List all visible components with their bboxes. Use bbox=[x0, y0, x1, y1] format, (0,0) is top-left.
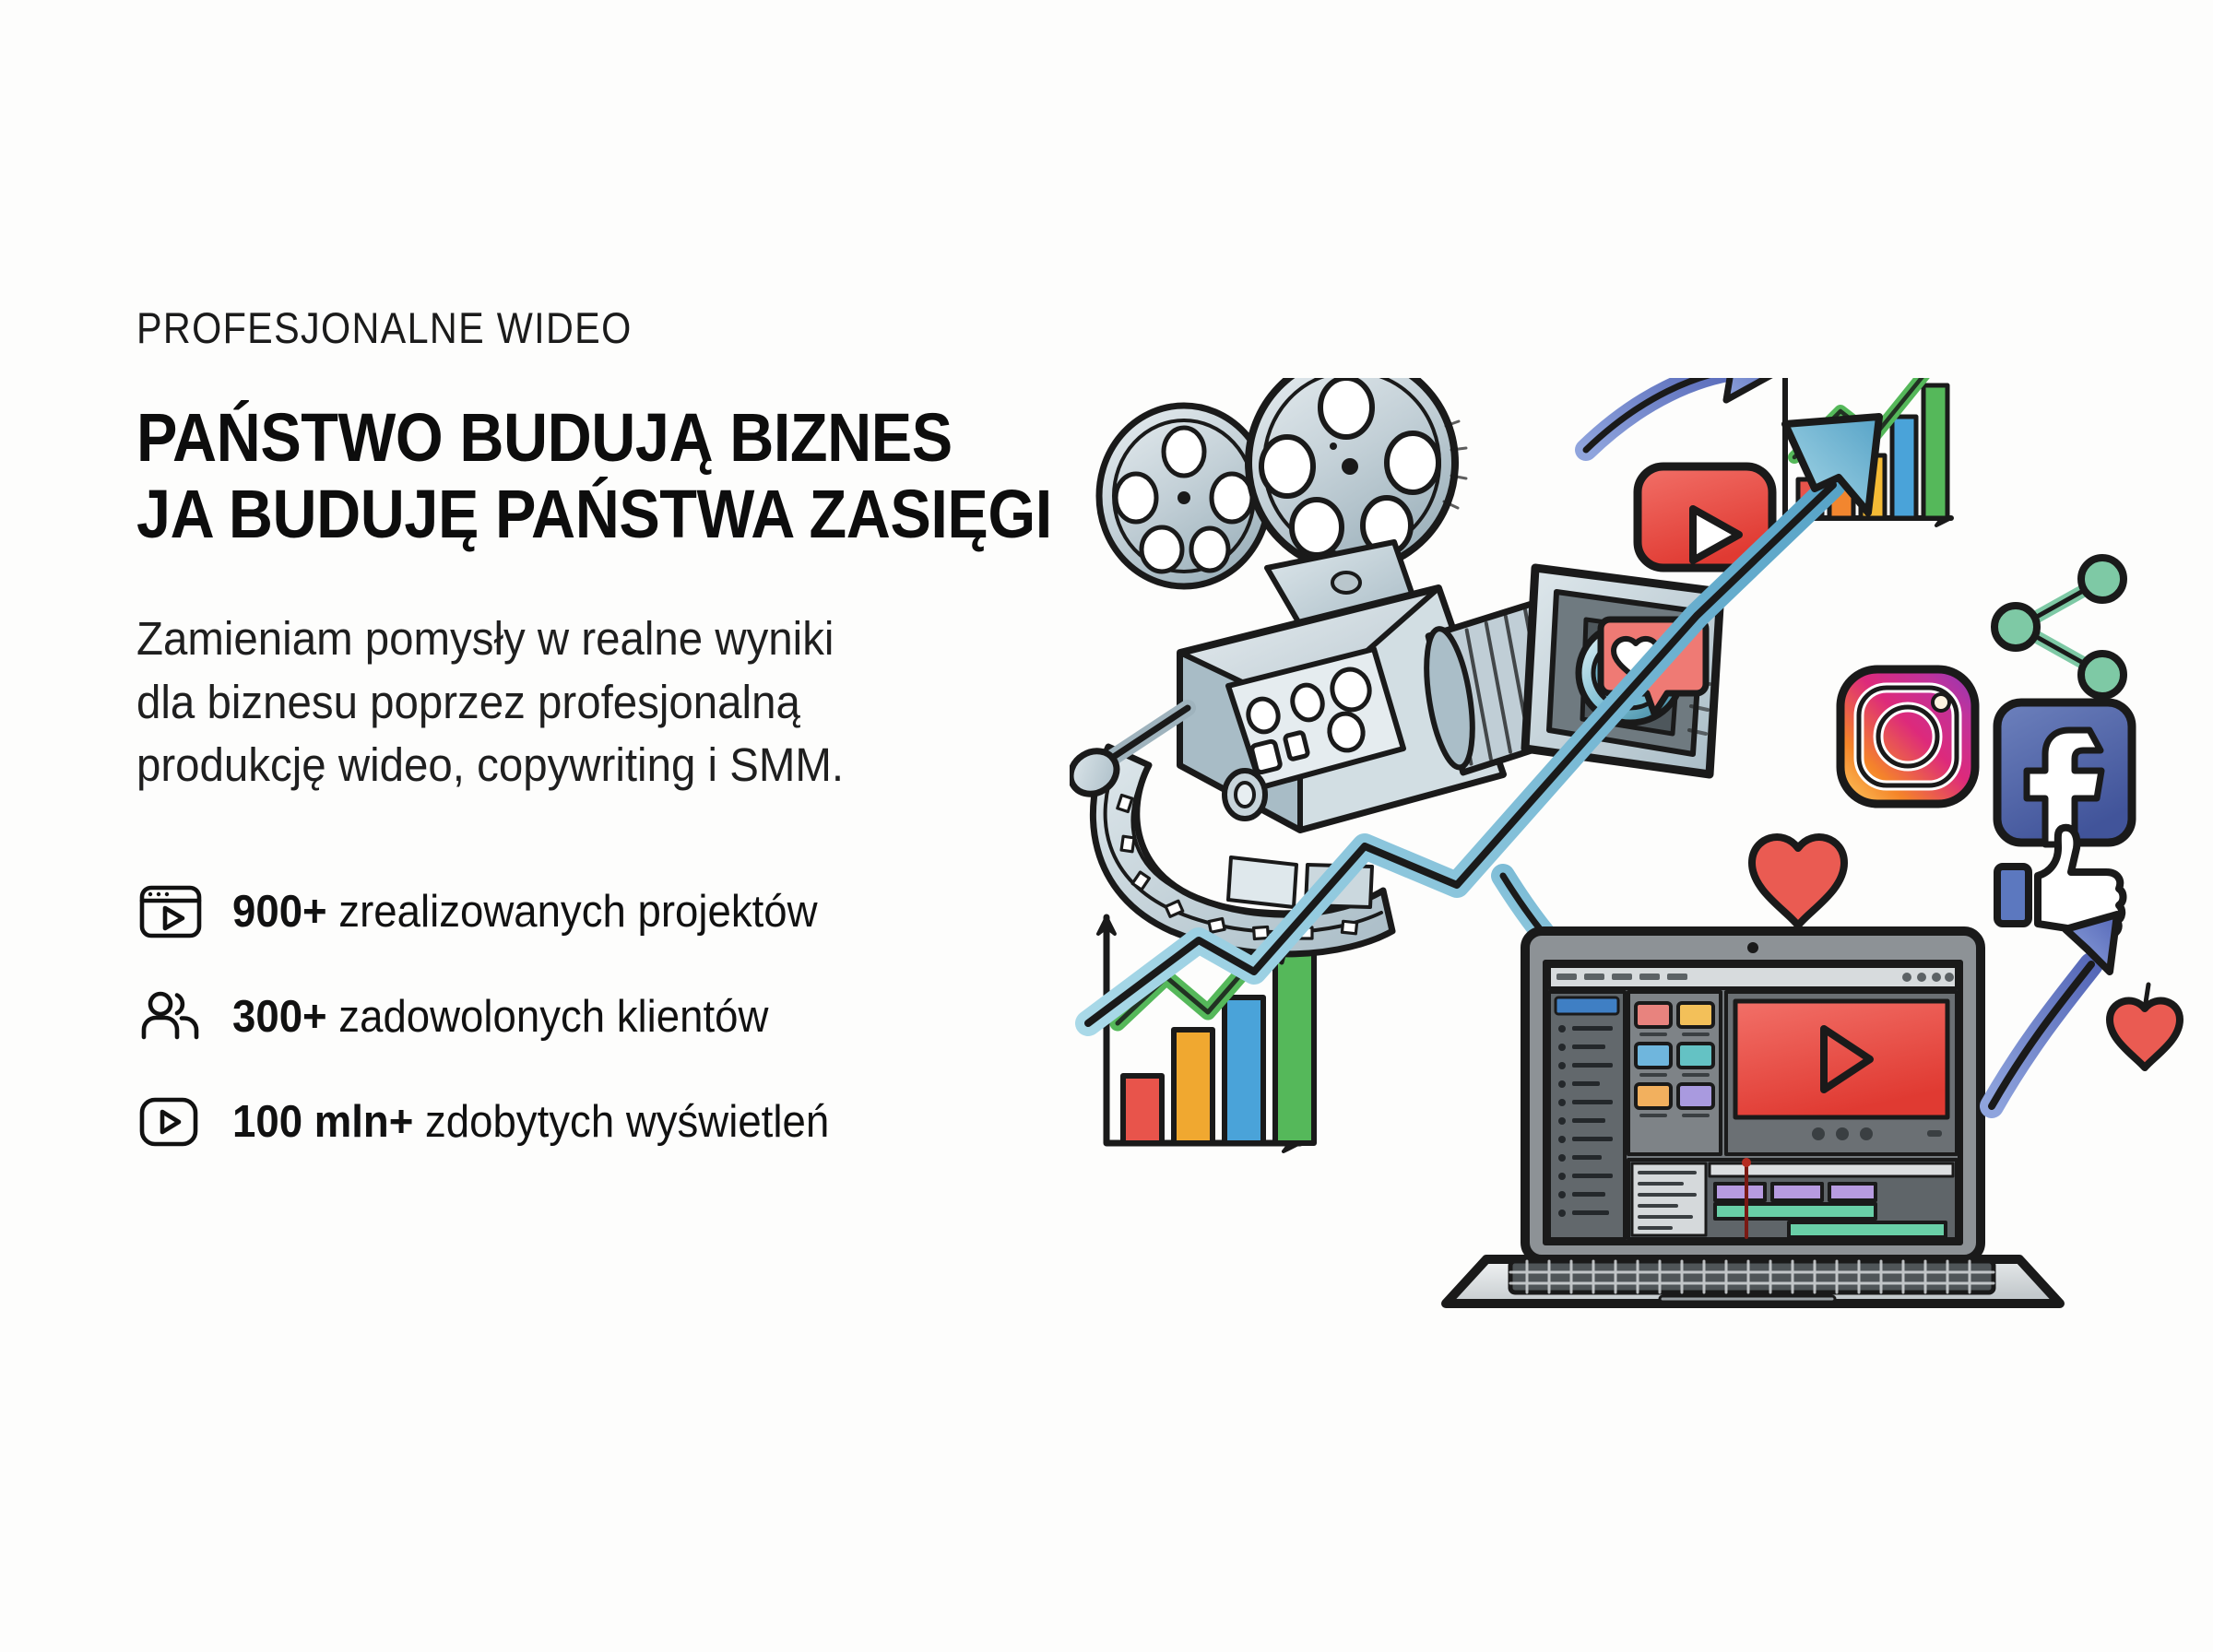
heart-icon bbox=[1752, 837, 1844, 926]
stats-list: 900+ zrealizowanych projektów 300+ zadow… bbox=[136, 876, 1105, 1158]
share-icon bbox=[1994, 558, 2124, 696]
subcopy-line-2: dla biznesu poprzez profesjonalną bbox=[136, 671, 1037, 734]
headline-line-1: PAŃSTWO BUDUJĄ BIZNES bbox=[136, 400, 1008, 477]
laptop-icon bbox=[1446, 931, 2060, 1304]
growth-arrow-icon bbox=[1586, 378, 1780, 450]
page-title: PAŃSTWO BUDUJĄ BIZNES JA BUDUJĘ PAŃSTWA … bbox=[136, 400, 1008, 553]
stat-row-views: 100 mln+ zdobytych wyświetleń bbox=[136, 1086, 1105, 1158]
headline-line-2: JA BUDUJĘ PAŃSTWA ZASIĘGI bbox=[136, 477, 1008, 553]
hero-illustration bbox=[1070, 378, 2204, 1309]
film-reel-icon bbox=[1099, 378, 1466, 586]
browser-play-icon bbox=[136, 883, 205, 940]
eyebrow-label: PROFESJONALNE WIDEO bbox=[136, 304, 988, 352]
stat-text-views: 100 mln+ zdobytych wyświetleń bbox=[232, 1096, 829, 1148]
stat-value-projects: 900+ bbox=[232, 887, 327, 937]
play-badge-icon bbox=[136, 1093, 205, 1150]
stat-value-views: 100 mln+ bbox=[232, 1097, 413, 1147]
stat-text-projects: 900+ zrealizowanych projektów bbox=[232, 886, 818, 938]
stat-label-views: zdobytych wyświetleń bbox=[413, 1097, 829, 1147]
stat-label-clients: zadowolonych klientów bbox=[327, 992, 769, 1042]
stat-row-clients: 300+ zadowolonych klientów bbox=[136, 981, 1105, 1053]
banner-canvas: PROFESJONALNE WIDEO PAŃSTWO BUDUJĄ BIZNE… bbox=[0, 0, 2213, 1652]
text-column: PROFESJONALNE WIDEO PAŃSTWO BUDUJĄ BIZNE… bbox=[136, 304, 1105, 1191]
stat-label-projects: zrealizowanych projektów bbox=[327, 887, 818, 937]
subcopy-line-3: produkcję wideo, copywriting i SMM. bbox=[136, 734, 1037, 796]
users-icon bbox=[136, 988, 205, 1045]
stat-value-clients: 300+ bbox=[232, 992, 327, 1042]
heart-icon bbox=[2110, 985, 2180, 1068]
growth-arrow-icon bbox=[1992, 914, 2117, 1106]
stat-text-clients: 300+ zadowolonych klientów bbox=[232, 991, 768, 1043]
facebook-icon bbox=[1997, 702, 2132, 844]
subcopy-paragraph: Zamieniam pomysły w realne wyniki dla bi… bbox=[136, 608, 1037, 796]
instagram-icon bbox=[1840, 669, 1975, 804]
stat-row-projects: 900+ zrealizowanych projektów bbox=[136, 876, 1105, 948]
subcopy-line-1: Zamieniam pomysły w realne wyniki bbox=[136, 608, 1037, 670]
